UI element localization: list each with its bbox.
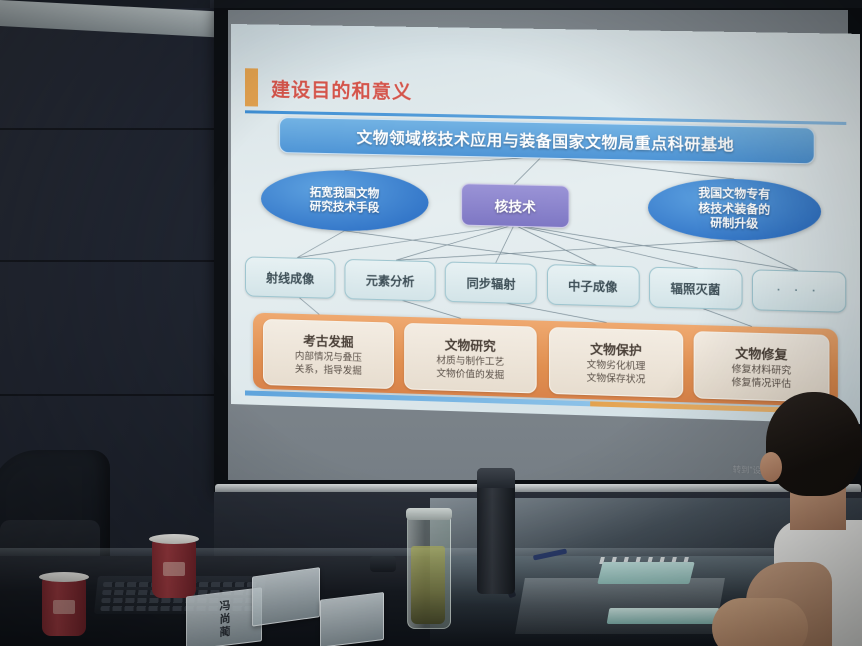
papers: [515, 578, 725, 634]
goal-left-line-1: 拓宽我国文物: [310, 185, 380, 201]
technique-box-1: 射线成像: [245, 256, 335, 298]
application-2-line-2: 文物价值的发掘: [436, 368, 504, 383]
projected-slide: 建设目的和意义: [231, 24, 860, 424]
page-title: 建设目的和意义: [271, 75, 412, 105]
technique-box-5: 辐照灭菌: [649, 267, 743, 310]
attendee-arm: [712, 598, 808, 646]
name-placard: [320, 592, 382, 646]
paper-cup: [152, 540, 196, 598]
microphone-base: [370, 556, 396, 572]
tea-leaves: [411, 546, 445, 624]
notebook: [597, 562, 694, 584]
paper-cup: [42, 578, 86, 636]
placard-name: 冯尚蔺: [216, 598, 232, 639]
application-box-3: 文物保护 文物劣化机理 文物保存状况: [549, 327, 683, 398]
application-3-line-2: 文物保存状况: [587, 372, 646, 387]
attendee-ear: [760, 452, 782, 482]
glass-tea-jar: [407, 515, 451, 629]
screen-top-trim: [214, 0, 862, 8]
thermos: [477, 468, 515, 594]
thermos-cap: [477, 468, 515, 488]
application-box-1: 考古发掘 内部情况与叠压 关系，指导发掘: [263, 319, 394, 389]
application-1-line-2: 关系，指导发掘: [295, 363, 362, 378]
goal-ellipse-left: 拓宽我国文物 研究技术手段: [261, 169, 428, 233]
name-placard: 冯尚蔺: [186, 587, 260, 646]
seated-attendee: [756, 392, 862, 646]
application-1-title: 考古发掘: [303, 330, 353, 351]
application-3-title: 文物保护: [590, 338, 642, 359]
wall-seam: [0, 260, 236, 262]
wall-seam: [0, 394, 236, 396]
technique-box-ellipsis: · · ·: [752, 269, 846, 312]
notebook: [607, 608, 720, 624]
slide-title-bar: 建设目的和意义: [245, 74, 846, 120]
technique-box-3: 同步辐射: [445, 261, 537, 304]
goal-right-line-1: 我国文物专有: [698, 187, 770, 203]
goal-right-line-3: 研制升级: [710, 216, 758, 232]
cup-logo: [163, 562, 185, 576]
application-box-2: 文物研究 材质与制作工艺 文物价值的发掘: [404, 323, 537, 394]
application-4-title: 文物修复: [735, 342, 787, 363]
cup-lid: [149, 534, 199, 544]
application-2-title: 文物研究: [445, 334, 496, 355]
technique-box-2: 元素分析: [345, 259, 436, 302]
name-placard: [252, 567, 318, 624]
jar-lid: [406, 508, 452, 520]
goal-left-line-2: 研究技术手段: [310, 200, 380, 216]
attendee-head: [766, 392, 862, 496]
core-technology-box: 核技术: [461, 183, 570, 228]
cup-logo: [53, 600, 75, 614]
goal-right-line-2: 核技术装备的: [698, 201, 770, 217]
conference-room-photo: 建设目的和意义: [0, 0, 862, 646]
wall-seam: [0, 128, 236, 130]
application-4-line-2: 修复情况评估: [732, 377, 792, 392]
slide-body: 文物领域核技术应用与装备国家文物局重点科研基地 拓宽我国文物 研究技术手段 核技…: [245, 116, 846, 415]
cup-lid: [39, 572, 89, 582]
goal-ellipse-right: 我国文物专有 核技术装备的 研制升级: [648, 177, 821, 242]
technique-box-4: 中子成像: [547, 264, 640, 307]
title-accent-bar: [245, 68, 258, 106]
